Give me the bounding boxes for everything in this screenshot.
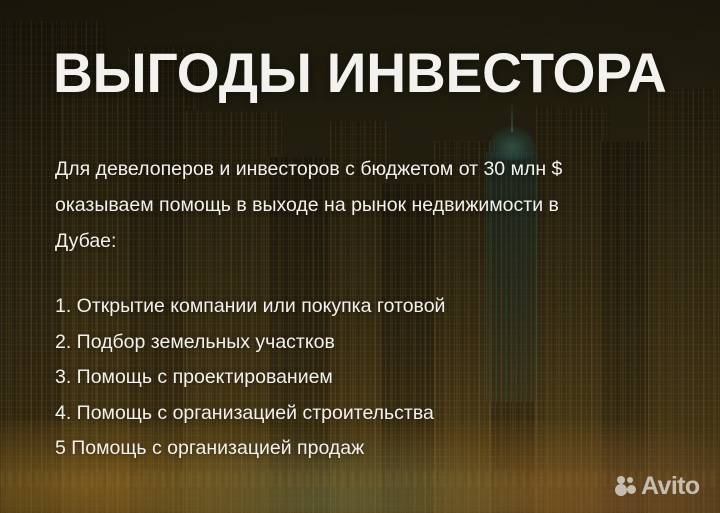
- list-item: 4. Помощь с организацией строительства: [55, 396, 445, 432]
- list-item: 5 Помощь с организацией продаж: [55, 431, 445, 467]
- avito-watermark: Avito: [615, 474, 700, 499]
- slide-content: ВЫГОДЫ ИНВЕСТОРА Для девелоперов и инвес…: [0, 0, 720, 513]
- avito-dots-icon: [615, 476, 636, 497]
- list-item: 2. Подбор земельных участков: [55, 325, 445, 361]
- slide-paragraph: Для девелоперов и инвесторов с бюджетом …: [55, 151, 615, 259]
- slide-title: ВЫГОДЫ ИНВЕСТОРА: [53, 44, 667, 102]
- list-item: 3. Помощь с проектированием: [55, 360, 445, 396]
- avito-wordmark: Avito: [641, 474, 700, 499]
- promo-slide: ВЫГОДЫ ИНВЕСТОРА Для девелоперов и инвес…: [0, 0, 720, 513]
- benefits-list: 1. Открытие компании или покупка готовой…: [55, 289, 445, 467]
- list-item: 1. Открытие компании или покупка готовой: [55, 289, 445, 325]
